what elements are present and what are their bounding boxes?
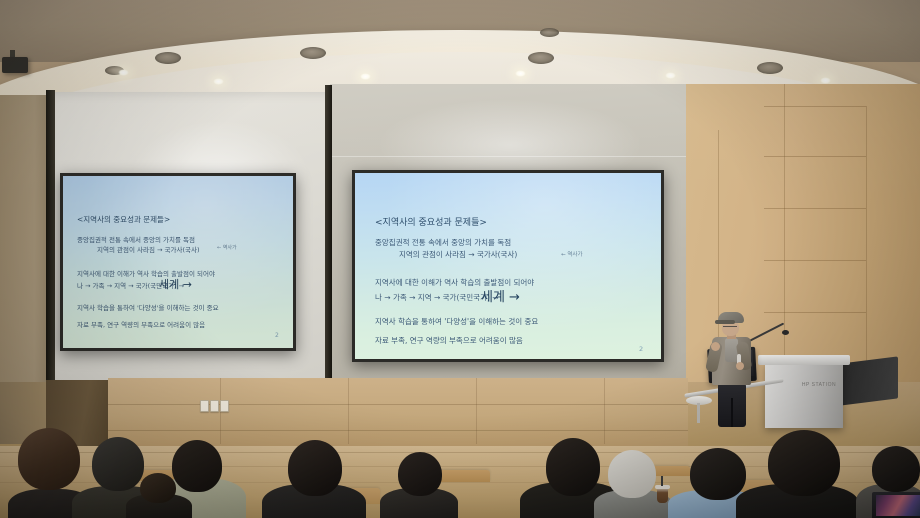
glasses-icon [723, 326, 737, 330]
wood-panel-seam [764, 106, 866, 107]
podium-surface [758, 355, 850, 365]
wood-panel-seam [764, 260, 866, 261]
flat-cap-brim [715, 320, 735, 324]
wall-panel-seam [332, 156, 688, 157]
wall-panel-seam [108, 404, 688, 405]
ceiling-speaker-grille [300, 47, 326, 59]
microphone-head-icon [782, 330, 789, 335]
ceiling-speaker-grille [757, 62, 783, 74]
coffee-cup [657, 487, 668, 503]
slide-line-2: 지역의 관점이 사라짐 → 국가사(국사) [399, 249, 517, 260]
presenter-leg-gap [731, 398, 733, 427]
presenter [706, 312, 758, 424]
slide-line-3: ← 역사가 [217, 244, 237, 251]
presenter-right-hand [736, 362, 744, 370]
wood-panel-seam [764, 208, 866, 209]
audience-member-head [608, 450, 656, 498]
audience-member-head [872, 446, 920, 492]
ceiling-speaker-grille [528, 52, 554, 64]
presenter-left-hand [711, 342, 720, 351]
light-switch-plate[interactable] [200, 400, 209, 412]
light-switch-plate[interactable] [210, 400, 219, 412]
podium-brand-label: HP STATION [796, 380, 842, 389]
wall-shadow-gap-left [46, 90, 55, 395]
slide-line-3: ← 역사가 [561, 250, 583, 258]
slide-title: <지역사의 중요성과 문제들> [77, 214, 170, 225]
slide-line-4: 지역사에 대한 이해가 역사 학습의 출발점이 되어야 [77, 268, 215, 278]
wall-panel-seam [476, 378, 477, 444]
wood-panel-seam [764, 156, 866, 157]
audience-member-head [690, 448, 746, 500]
audience-member-head [546, 438, 600, 496]
audience-member-head [18, 428, 80, 490]
right-projection-screen: <지역사의 중요성과 문제들> 중앙집권적 전통 속에서 중앙의 가치를 독점 … [352, 170, 664, 362]
slide-emphasis-word: 세계 → [159, 276, 192, 292]
ceiling-spotlight [665, 72, 676, 79]
left-slide-surface: <지역사의 중요성과 문제들> 중앙집권적 전통 속에서 중앙의 가치를 독점 … [63, 176, 293, 348]
audience-member-head [92, 437, 144, 491]
audience-member-head [398, 452, 442, 496]
slide-line-6: 지역사 학습을 통하여 '다양성'을 이해하는 것이 중요 [375, 316, 538, 327]
slide-line-2: 지역의 관점이 사라짐 → 국가사(국사) [97, 244, 200, 254]
ceiling-spotlight [118, 69, 129, 76]
slide-line-1: 중앙집권적 전통 속에서 중앙의 가치를 독점 [375, 237, 511, 248]
ceiling-spotlight [820, 77, 831, 84]
stool-leg [697, 403, 700, 423]
slide-line-6: 지역사 학습을 통하여 '다양성'을 이해하는 것이 중요 [77, 302, 219, 312]
audience-member-head [172, 440, 222, 492]
lecture-hall-photo: <지역사의 중요성과 문제들> 중앙집권적 전통 속에서 중앙의 가치를 독점 … [0, 0, 920, 518]
slide-line-7: 자료 부족, 연구 역량의 부족으로 어려움이 많음 [375, 335, 523, 346]
slide-page-number: 2 [275, 332, 279, 339]
lower-wall-panels [108, 378, 688, 446]
slide-emphasis-word: 세계 → [481, 286, 520, 305]
audience-member-head [288, 440, 342, 496]
slide-line-7: 자료 부족, 연구 역량의 부족으로 어려움이 많음 [77, 319, 205, 329]
ceiling-projector [2, 57, 28, 73]
slide-glare [355, 173, 661, 359]
wood-panel-seam [764, 312, 866, 313]
slide-page-number: 2 [639, 345, 643, 353]
wall-shadow-gap-right [325, 85, 332, 385]
ceiling-spotlight [213, 78, 224, 85]
wall-panel-seam [604, 378, 605, 444]
wall-panel-seam [348, 378, 349, 444]
ceiling-speaker-grille [540, 28, 559, 37]
audience-member-head [768, 430, 840, 496]
ceiling-spotlight [515, 70, 526, 77]
right-slide-surface: <지역사의 중요성과 문제들> 중앙집권적 전통 속에서 중앙의 가치를 독점 … [355, 173, 661, 359]
audience-laptop-screen[interactable] [876, 495, 920, 516]
slide-title: <지역사의 중요성과 문제들> [375, 215, 487, 228]
ceiling-speaker-grille [155, 52, 181, 64]
wall-panel-seam [108, 430, 688, 431]
power-outlet-plate[interactable] [220, 400, 229, 412]
left-projection-screen: <지역사의 중요성과 문제들> 중앙집권적 전통 속에서 중앙의 가치를 독점 … [60, 173, 296, 351]
slide-line-1: 중앙집권적 전통 속에서 중앙의 가치를 독점 [77, 234, 195, 244]
wood-panel-seam [866, 106, 867, 376]
ceiling-spotlight [360, 73, 371, 80]
podium [765, 362, 843, 428]
coffee-cup-straw [661, 476, 663, 486]
audience-member-head [140, 473, 176, 503]
